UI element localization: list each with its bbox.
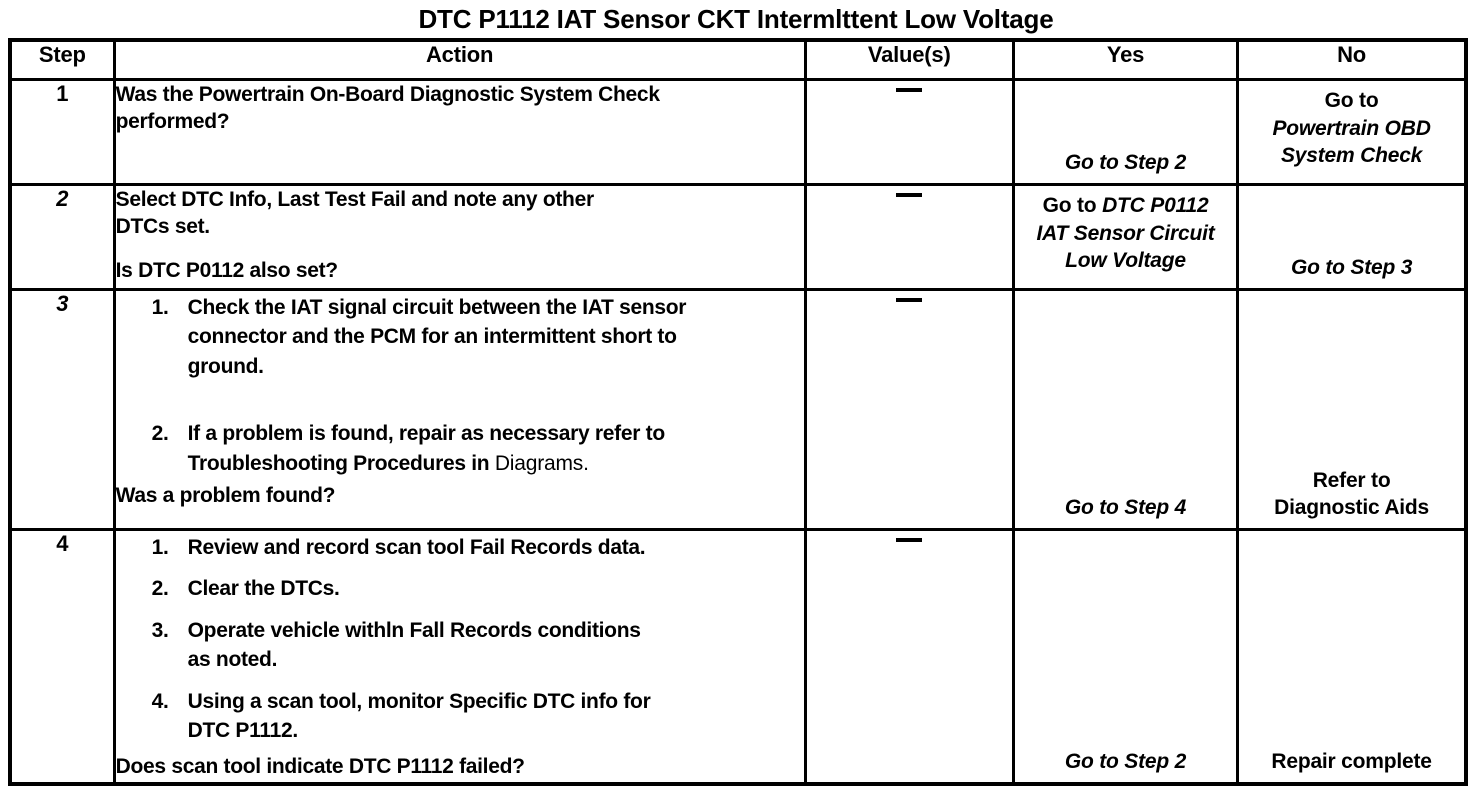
action-line: Was the Powertrain On-Board Diagnostic S… xyxy=(116,81,804,108)
no-cell: Go to Step 3 xyxy=(1238,185,1466,290)
no-answer-target-line2: System Check xyxy=(1239,142,1464,170)
list-item-number: 3. xyxy=(152,616,169,645)
table-row: 1 Was the Powertrain On-Board Diagnostic… xyxy=(10,80,1466,185)
yes-answer-block: Go to DTC P0112 IAT Sensor Circuit Low V… xyxy=(1015,192,1236,275)
action-line: DTC P1112. xyxy=(188,716,804,745)
yes-answer-text: Go to Step 2 xyxy=(1015,149,1236,177)
yes-answer-prefix: Go to xyxy=(1043,194,1097,217)
value-cell xyxy=(805,290,1013,530)
action-line: Check the IAT signal circuit between the… xyxy=(188,293,804,322)
action-line: Select DTC Info, Last Test Fail and note… xyxy=(116,186,804,213)
step-number-cell: 3 xyxy=(10,290,114,530)
action-line: Operate vehicle withln Fall Records cond… xyxy=(188,616,804,645)
action-line: performed? xyxy=(116,108,804,135)
action-line: connector and the PCM for an intermitten… xyxy=(188,322,804,351)
column-header-no: No xyxy=(1238,40,1466,80)
list-item: 2. Clear the DTCs. xyxy=(116,574,804,603)
list-item: 3. Operate vehicle withln Fall Records c… xyxy=(116,616,804,675)
action-question: Is DTC P0112 also set? xyxy=(116,257,804,284)
em-dash-glyph xyxy=(896,538,922,542)
action-cell: Select DTC Info, Last Test Fail and note… xyxy=(114,185,805,290)
action-reference-text: Diagrams. xyxy=(495,452,589,475)
list-item: 2. If a problem is found, repair as nece… xyxy=(116,419,804,478)
action-step-list: 1. Review and record scan tool Fail Reco… xyxy=(116,533,804,745)
action-question: Was a problem found? xyxy=(116,482,804,509)
list-item: 4. Using a scan tool, monitor Specific D… xyxy=(116,687,804,746)
document-page: DTC P1112 IAT Sensor CKT Intermlttent Lo… xyxy=(0,0,1472,806)
no-answer-block: Go to Powertrain OBD System Check xyxy=(1239,87,1464,170)
column-header-step: Step xyxy=(10,40,114,80)
no-cell: Refer to Diagnostic Aids xyxy=(1238,290,1466,530)
no-answer-line2: Diagnostic Aids xyxy=(1239,494,1464,522)
em-dash-glyph xyxy=(896,88,922,92)
action-line-text: Troubleshooting Procedures in xyxy=(188,452,495,475)
action-line: Troubleshooting Procedures in Diagrams. xyxy=(188,449,804,478)
table-header-row: Step Action Value(s) Yes No xyxy=(10,40,1466,80)
action-line: as noted. xyxy=(188,645,804,674)
list-item-number: 1. xyxy=(152,533,169,562)
step-number-cell: 2 xyxy=(10,185,114,290)
table-row: 3 1. Check the IAT signal circuit betwee… xyxy=(10,290,1466,530)
page-title: DTC P1112 IAT Sensor CKT Intermlttent Lo… xyxy=(0,0,1472,38)
action-cell: Was the Powertrain On-Board Diagnostic S… xyxy=(114,80,805,185)
action-line: ground. xyxy=(188,352,804,381)
step-number-cell: 4 xyxy=(10,530,114,784)
yes-answer-target-code: DTC P0112 xyxy=(1102,194,1208,217)
step-number-cell: 1 xyxy=(10,80,114,185)
no-answer-text: Go to Step 3 xyxy=(1239,254,1464,282)
no-answer-target-line1: Powertrain OBD xyxy=(1239,115,1464,143)
list-item-number: 1. xyxy=(152,293,169,322)
action-line: Using a scan tool, monitor Specific DTC … xyxy=(188,687,804,716)
column-header-action: Action xyxy=(114,40,805,80)
list-item: 1. Check the IAT signal circuit between … xyxy=(116,293,804,381)
no-answer-prefix: Go to xyxy=(1239,87,1464,115)
yes-cell: Go to DTC P0112 IAT Sensor Circuit Low V… xyxy=(1013,185,1237,290)
yes-answer-target-line2: IAT Sensor Circuit xyxy=(1015,220,1236,248)
yes-answer-text: Go to Step 2 xyxy=(1015,748,1236,776)
em-dash-glyph xyxy=(896,298,922,302)
value-cell xyxy=(805,185,1013,290)
no-answer-text: Repair complete xyxy=(1239,748,1464,776)
yes-answer-line1: Go to DTC P0112 xyxy=(1015,192,1236,220)
diagnostic-table: Step Action Value(s) Yes No 1 Was the Po… xyxy=(8,38,1468,786)
action-cell: 1. Check the IAT signal circuit between … xyxy=(114,290,805,530)
list-item-number: 2. xyxy=(152,574,169,603)
action-cell: 1. Review and record scan tool Fail Reco… xyxy=(114,530,805,784)
column-header-yes: Yes xyxy=(1013,40,1237,80)
list-item-number: 2. xyxy=(152,419,169,448)
action-line: If a problem is found, repair as necessa… xyxy=(188,419,804,448)
value-cell xyxy=(805,80,1013,185)
yes-answer-text: Go to Step 4 xyxy=(1015,494,1236,522)
column-header-values: Value(s) xyxy=(805,40,1013,80)
no-answer-block: Refer to Diagnostic Aids xyxy=(1239,467,1464,522)
table-row: 2 Select DTC Info, Last Test Fail and no… xyxy=(10,185,1466,290)
action-line: Review and record scan tool Fail Records… xyxy=(188,533,804,562)
yes-answer-target-line3: Low Voltage xyxy=(1015,247,1236,275)
action-line: Clear the DTCs. xyxy=(188,574,804,603)
table-row: 4 1. Review and record scan tool Fail Re… xyxy=(10,530,1466,784)
no-cell: Go to Powertrain OBD System Check xyxy=(1238,80,1466,185)
yes-cell: Go to Step 4 xyxy=(1013,290,1237,530)
no-answer-line1: Refer to xyxy=(1239,467,1464,495)
yes-cell: Go to Step 2 xyxy=(1013,530,1237,784)
em-dash-glyph xyxy=(896,193,922,197)
action-line: DTCs set. xyxy=(116,213,804,240)
action-question: Does scan tool indicate DTC P1112 failed… xyxy=(116,753,804,780)
no-cell: Repair complete xyxy=(1238,530,1466,784)
value-cell xyxy=(805,530,1013,784)
action-step-list: 1. Check the IAT signal circuit between … xyxy=(116,293,804,478)
yes-cell: Go to Step 2 xyxy=(1013,80,1237,185)
list-item-number: 4. xyxy=(152,687,169,716)
list-item: 1. Review and record scan tool Fail Reco… xyxy=(116,533,804,562)
